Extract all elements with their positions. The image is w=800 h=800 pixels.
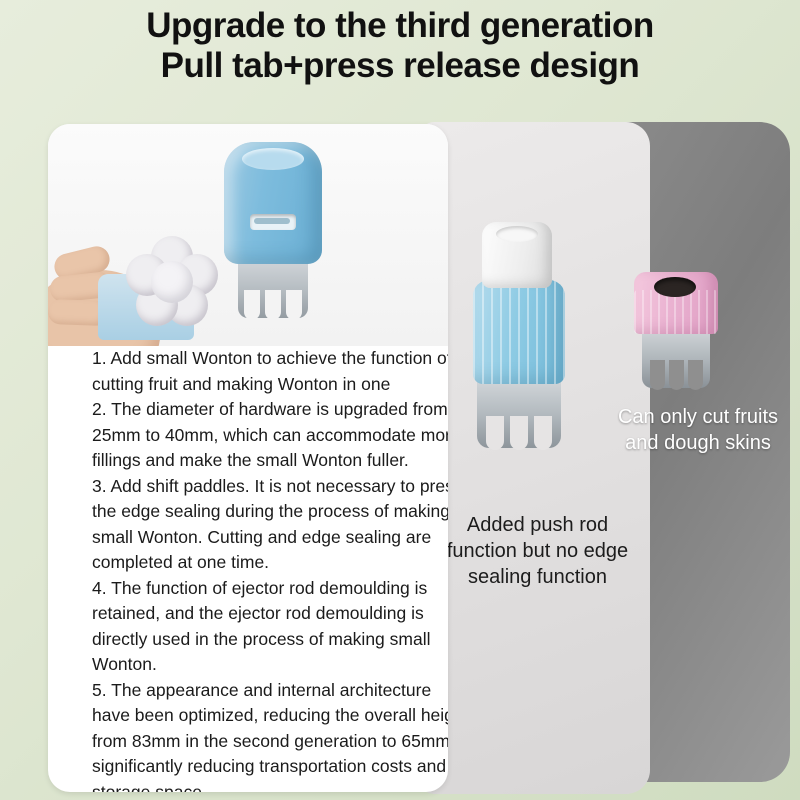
- blue-body-ribs-icon: [473, 280, 565, 384]
- feature-item-4: 4. The function of ejector rod demouldin…: [92, 576, 448, 678]
- steel-cutter-icon: [642, 326, 710, 388]
- blue-body-icon: [473, 280, 565, 384]
- pull-tab-press-release-icon: [250, 214, 296, 230]
- cap-top-icon: [242, 148, 304, 170]
- flower-mold-icon: [126, 236, 218, 328]
- promo-image-root: Upgrade to the third generation Pull tab…: [0, 0, 800, 800]
- feature-item-3: 3. Add shift paddles. It is not necessar…: [92, 474, 448, 576]
- pink-mold-product-image: [628, 272, 724, 402]
- left-feature-card: 1. Add small Wonton to achieve the funct…: [48, 124, 448, 792]
- blue-second-gen-product-image: [455, 222, 585, 462]
- page-title: Upgrade to the third generation Pull tab…: [0, 6, 800, 86]
- feature-item-2: 2. The diameter of hardware is upgraded …: [92, 397, 448, 474]
- push-rod-top-icon: [496, 226, 538, 242]
- feature-list: 1. Add small Wonton to achieve the funct…: [92, 346, 448, 792]
- middle-panel-caption: Added push rod function but no edge seal…: [430, 512, 645, 590]
- feature-item-1: 1. Add small Wonton to achieve the funct…: [92, 346, 448, 397]
- right-panel-caption: Can only cut fruits and dough skins: [600, 404, 796, 456]
- feature-item-5: 5. The appearance and internal architect…: [92, 678, 448, 793]
- cap-opening-icon: [654, 277, 696, 297]
- headline-line-1: Upgrade to the third generation: [0, 6, 800, 46]
- headline-line-2: Pull tab+press release design: [0, 46, 800, 86]
- third-gen-product-photo: [48, 124, 448, 346]
- third-gen-mold-icon: [216, 142, 328, 342]
